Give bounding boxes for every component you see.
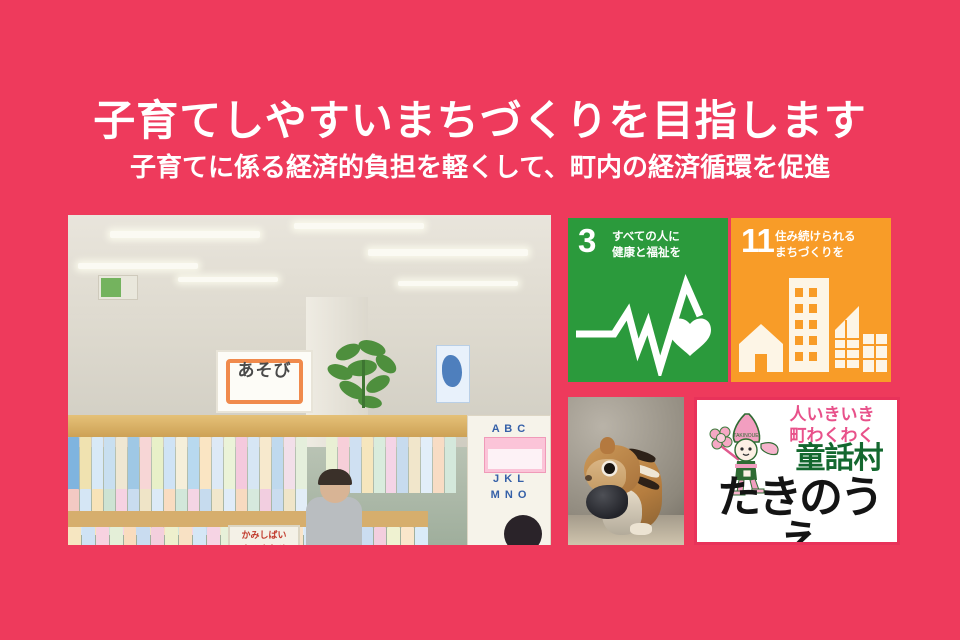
- wall-poster-art: [442, 355, 462, 387]
- pink-notice-body: [488, 449, 542, 469]
- slide-canvas: 子育てしやすいまちづくりを目指します 子育てに係る経済的負担を軽くして、町内の経…: [0, 0, 960, 640]
- chipmunk-photo: [568, 397, 684, 545]
- exit-sign-glyph: [101, 278, 121, 297]
- heartbeat-icon: [568, 272, 728, 376]
- chipmunk-ear: [600, 437, 615, 454]
- sunflower-seed: [586, 485, 628, 519]
- ceiling-light: [78, 263, 198, 269]
- chipmunk-nose: [585, 475, 592, 481]
- parent-head: [504, 515, 542, 545]
- reading-area-sign-text: あそび: [228, 361, 301, 402]
- chipmunk-paw: [630, 523, 652, 535]
- ceiling-light: [398, 281, 518, 286]
- ceiling-light: [110, 231, 260, 238]
- ceiling-light: [294, 223, 424, 229]
- village-logo-catchphrase: 人いきいき 町わくわく: [769, 404, 895, 446]
- sdg-card-11-title: 住み続けられる まちづくりを: [775, 229, 887, 262]
- sdg-card-3: 3 すべての人に 健康と福祉を: [568, 218, 728, 382]
- city-buildings-icon: [731, 272, 891, 376]
- village-logo-name: たきのうえ: [701, 476, 897, 545]
- sdg-card-3-title: すべての人に 健康と福祉を: [612, 229, 724, 262]
- sdg-card-3-number: 3: [578, 224, 595, 257]
- book-row: [68, 437, 308, 497]
- library-photo: あそび: [68, 215, 551, 545]
- sdg-card-11: 11 住み続けられる まちづくりを: [731, 218, 891, 382]
- potted-plant: [326, 340, 406, 412]
- ceiling-light: [368, 249, 528, 256]
- village-logo-subtitle: 童話村: [783, 444, 895, 474]
- page-title: 子育てしやすいまちづくりを目指します: [0, 99, 960, 144]
- chipmunk-eye: [604, 463, 615, 474]
- picture-board-text: かみしばい よみきかせ: [230, 529, 298, 545]
- page-subtitle: 子育てに係る経済的負担を軽くして、町内の経済循環を促進: [0, 153, 960, 182]
- staff-torso: [306, 497, 362, 545]
- staff-hair: [318, 469, 352, 485]
- village-logo-panel: TAKINOUE 人いきいき 町わくわく 童話村 たきのうえ: [694, 397, 900, 545]
- svg-text:TAKINOUE: TAKINOUE: [733, 433, 759, 439]
- ceiling-light: [178, 277, 278, 282]
- sdg-card-11-number: 11: [741, 224, 774, 257]
